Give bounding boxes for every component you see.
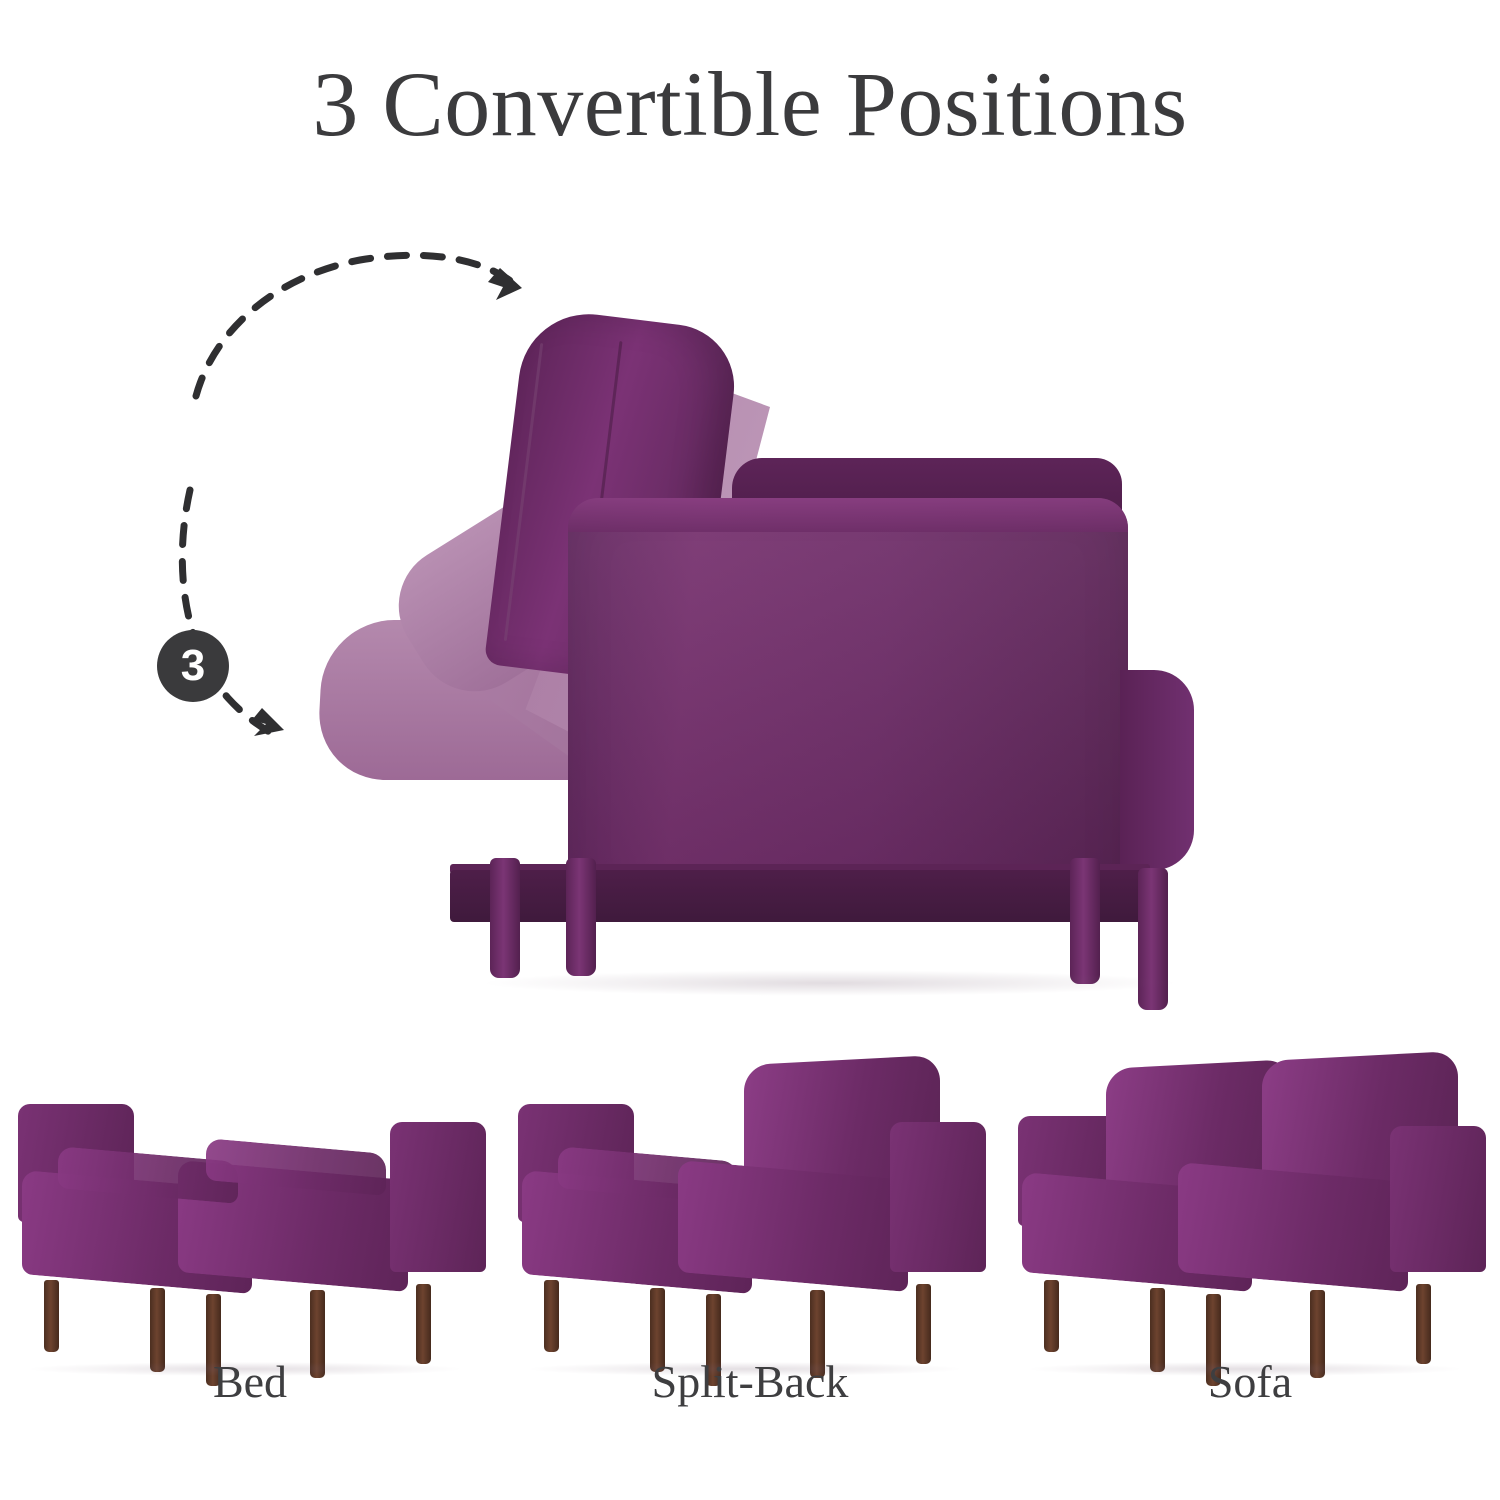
right-armrest-bulge bbox=[1120, 670, 1194, 870]
infographic-canvas: 3 Convertible Positions 3 bbox=[0, 0, 1500, 1500]
convertible-sofa-side-view bbox=[300, 270, 1200, 990]
splitback-seat-right bbox=[678, 1160, 908, 1292]
position-card-sofa[interactable]: Sofa bbox=[1000, 1030, 1500, 1430]
position-card-bed[interactable]: Bed bbox=[0, 1030, 500, 1430]
sofa-right-arm bbox=[1390, 1126, 1486, 1272]
back-panel bbox=[568, 498, 1128, 918]
thumbnail-split-back-illustration bbox=[510, 1042, 990, 1332]
splitback-leg-5 bbox=[916, 1284, 931, 1364]
position-thumbnails: Bed bbox=[0, 1030, 1500, 1500]
position-label-bed: Bed bbox=[0, 1355, 500, 1408]
splitback-leg-1 bbox=[544, 1280, 559, 1352]
position-count-badge: 3 bbox=[157, 630, 229, 702]
sofa-leg-back-left bbox=[566, 858, 596, 976]
bed-leg-5 bbox=[416, 1284, 431, 1364]
sofa-leg-5 bbox=[1416, 1284, 1431, 1364]
position-label-sofa: Sofa bbox=[1000, 1355, 1500, 1408]
back-panel-top-roll bbox=[568, 498, 1128, 532]
sofa-leg-front-left bbox=[490, 858, 520, 978]
sofa-leg-back-right bbox=[1070, 858, 1100, 984]
badge-number: 3 bbox=[181, 644, 205, 688]
thumbnail-sofa-illustration bbox=[1010, 1042, 1490, 1332]
bed-right-arm bbox=[390, 1122, 486, 1272]
position-card-split-back[interactable]: Split-Back bbox=[500, 1030, 1000, 1430]
splitback-right-arm bbox=[890, 1122, 986, 1272]
thumbnail-bed-illustration bbox=[10, 1042, 490, 1332]
bed-leg-1 bbox=[44, 1280, 59, 1352]
page-title: 3 Convertible Positions bbox=[0, 58, 1500, 150]
sofa-leg-1 bbox=[1044, 1280, 1059, 1352]
position-label-split-back: Split-Back bbox=[500, 1355, 1000, 1408]
recline-arrow-down-head bbox=[252, 708, 284, 736]
floor-shadow bbox=[480, 970, 1180, 996]
hero-illustration: 3 bbox=[0, 230, 1500, 1020]
sofa-seat-right bbox=[1178, 1162, 1408, 1292]
frame-rail bbox=[450, 870, 1150, 922]
